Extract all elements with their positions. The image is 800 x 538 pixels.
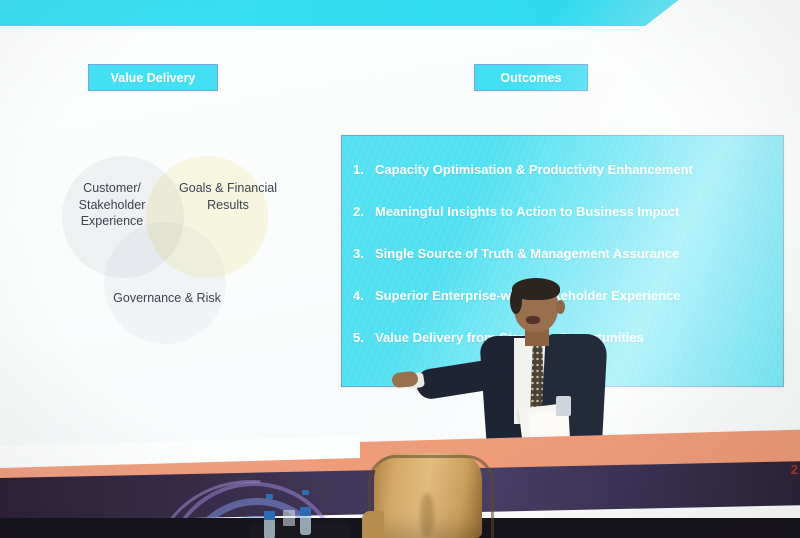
outcome-item: 1.Capacity Optimisation & Productivity E… bbox=[353, 162, 773, 177]
outcome-item: 3.Single Source of Truth & Management As… bbox=[353, 246, 773, 261]
bottle-label bbox=[300, 507, 311, 516]
chair-outline bbox=[368, 455, 494, 538]
section-chip-value-delivery: Value Delivery bbox=[88, 64, 218, 91]
presenter-hair-side bbox=[510, 288, 522, 314]
backdrop-corner-number: 2 bbox=[791, 462, 798, 477]
outcome-number: 5. bbox=[353, 330, 375, 345]
outcome-text: Single Source of Truth & Management Assu… bbox=[375, 246, 773, 261]
chair-armrest bbox=[362, 511, 384, 538]
bottle-cap bbox=[266, 494, 273, 499]
photo-of-presentation: Integrated Enterprise Digital Transforma… bbox=[0, 0, 800, 538]
presenter-mouth bbox=[526, 316, 540, 324]
outcomes-label: Outcomes bbox=[500, 71, 561, 85]
venn-label-customer: Customer/ Stakeholder Experience bbox=[56, 180, 168, 230]
bottle-body bbox=[300, 507, 311, 535]
water-bottle bbox=[300, 490, 311, 535]
section-chip-outcomes: Outcomes bbox=[474, 64, 588, 91]
water-bottle bbox=[264, 494, 275, 538]
presenter-ear bbox=[556, 300, 565, 314]
drinking-glass bbox=[283, 510, 295, 526]
value-delivery-label: Value Delivery bbox=[111, 71, 196, 85]
bottle-label bbox=[264, 511, 275, 520]
bottle-cap bbox=[302, 490, 309, 495]
outcome-text: Meaningful Insights to Action to Busines… bbox=[375, 204, 773, 219]
outcome-number: 3. bbox=[353, 246, 375, 261]
projected-slide: Integrated Enterprise Digital Transforma… bbox=[0, 0, 800, 462]
venn-diagram: Customer/ Stakeholder Experience Goals &… bbox=[60, 150, 290, 350]
venn-circle-governance bbox=[104, 222, 226, 344]
venn-label-governance: Governance & Risk bbox=[102, 290, 232, 307]
outcome-number: 1. bbox=[353, 162, 375, 177]
venn-label-goals: Goals & Financial Results bbox=[178, 180, 278, 213]
slide-header-banner bbox=[0, 0, 702, 26]
outcome-text: Capacity Optimisation & Productivity Enh… bbox=[375, 162, 773, 177]
presenter-badge bbox=[556, 396, 571, 416]
stage-chair bbox=[368, 453, 488, 538]
outcome-number: 4. bbox=[353, 288, 375, 303]
bottle-body bbox=[264, 511, 275, 538]
outcome-item: 2.Meaningful Insights to Action to Busin… bbox=[353, 204, 773, 219]
outcome-number: 2. bbox=[353, 204, 375, 219]
